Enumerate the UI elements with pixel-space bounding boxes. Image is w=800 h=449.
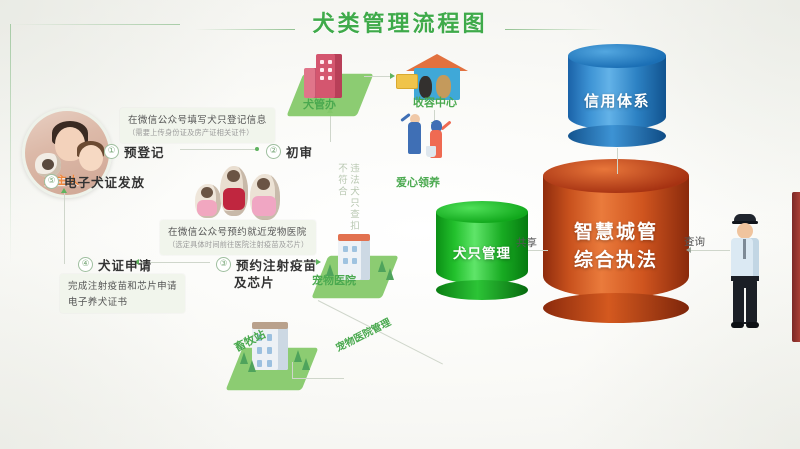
connector-step1-to-step2 — [180, 149, 258, 150]
label-adoption: 爱心领养 — [396, 174, 440, 190]
cylinder-top — [543, 159, 689, 193]
title-rule-left — [195, 29, 295, 30]
step-number: ① — [104, 144, 119, 159]
adult-body — [408, 122, 421, 154]
officer-shoe-right — [746, 322, 759, 328]
illustration-adoption — [398, 112, 468, 174]
frame-line-left — [10, 24, 11, 264]
step-label: 犬证申请 — [98, 255, 152, 274]
illustration-enforcement-officer — [722, 214, 768, 332]
connector-label-share: 共享 — [516, 235, 537, 250]
right-edge-band — [792, 192, 800, 342]
step-4-license-application[interactable]: ④ 犬证申请 — [78, 255, 152, 274]
connector-livestock-base — [292, 378, 344, 379]
diagram-canvas: 犬类管理流程图 犬主人 在微信公众号填写犬只登记信息 （需要上传身份证及房产证相… — [0, 0, 800, 449]
dog-1-face — [201, 187, 213, 198]
step-number: ② — [266, 144, 281, 159]
step-label: 电子犬证发放 — [64, 172, 145, 191]
connector-dogoffice-to-shelter — [364, 76, 392, 77]
label-shelter-center: 收容中心 — [413, 94, 457, 110]
smart-city-line-2: 综合执法 — [543, 246, 689, 274]
dog-3-coat — [252, 196, 276, 216]
label-pet-hospital: 宠物医院 — [312, 272, 356, 288]
system-dog-management-label: 犬只管理 — [436, 242, 528, 262]
system-dog-management-cylinder[interactable]: 犬只管理 — [436, 212, 528, 290]
frame-line-top-left — [10, 24, 180, 25]
dogs-photo — [193, 158, 298, 220]
label-dog-office: 犬管办 — [303, 96, 336, 112]
note-title: 在微信公众号预约就近宠物医院 — [168, 224, 308, 238]
system-credit-label: 信用体系 — [568, 90, 666, 111]
connector-dot — [255, 147, 259, 151]
cylinder-bottom — [568, 125, 666, 147]
dog-3-face — [257, 178, 270, 190]
dog-2-face — [227, 170, 240, 182]
step-number: ③ — [216, 257, 231, 272]
step-5-license-issue[interactable]: ⑤ 电子犬证发放 — [44, 172, 145, 191]
child-arm — [440, 120, 451, 130]
step-number: ④ — [78, 257, 93, 272]
note-subtitle: （选定具体时间前往医院注射疫苗及芯片） — [168, 240, 308, 250]
officer-leg-gap — [744, 288, 746, 322]
officer-head — [737, 223, 753, 239]
building-livestock-station — [222, 322, 322, 390]
connector-share — [528, 250, 548, 251]
note-license-application: 完成注射疫苗和芯片申请 电子养犬证书 — [60, 274, 185, 313]
system-credit-cylinder[interactable]: 信用体系 — [568, 56, 666, 136]
title-rule-right — [505, 29, 605, 30]
hospital-roof — [338, 234, 370, 241]
step-number: ⑤ — [44, 174, 59, 189]
officer-tie — [743, 239, 746, 259]
shelter-sign — [396, 74, 418, 89]
note-subtitle: （需要上传身份证及房产证相关证件） — [128, 128, 267, 138]
connector-step4-to-step5 — [64, 192, 65, 264]
officer-shoe-left — [731, 322, 744, 328]
connector-label-query: 查询 — [684, 234, 705, 249]
note-vaccine-appointment: 在微信公众号预约就近宠物医院 （选定具体时间前往医院注射疫苗及芯片） — [160, 220, 316, 255]
cylinder-top — [436, 201, 528, 223]
note-title: 完成注射疫苗和芯片申请 — [68, 278, 177, 292]
step-3-label-line2: 及芯片 — [234, 272, 275, 291]
puppy-face — [42, 159, 54, 170]
smart-city-line-1: 智慧城管 — [543, 218, 689, 246]
page-title: 犬类管理流程图 — [296, 6, 503, 38]
step-label: 预登记 — [124, 142, 165, 161]
child-face — [79, 145, 103, 171]
system-smart-city-cylinder[interactable]: 智慧城管 综合执法 — [543, 176, 689, 308]
note-title: 在微信公众号填写犬只登记信息 — [128, 112, 267, 126]
connector-review-to-dog-office — [330, 112, 331, 142]
note-pre-registration: 在微信公众号填写犬只登记信息 （需要上传身份证及房产证相关证件） — [120, 108, 275, 143]
dog-1-coat — [197, 200, 217, 216]
cylinder-top — [568, 44, 666, 68]
annotation-illegal-seizure: 违法犬只查扣 — [346, 163, 360, 232]
title-block: 犬类管理流程图 — [0, 6, 800, 38]
note-subtitle: 电子养犬证书 — [68, 294, 177, 308]
arrow-to-shelter — [390, 73, 395, 79]
step-1-pre-registration[interactable]: ① 预登记 — [104, 142, 165, 161]
connector-credit-to-smartcity — [617, 148, 618, 174]
cylinder-bottom — [436, 280, 528, 300]
connector-livestock-riser — [292, 362, 293, 379]
cylinder-bottom — [543, 293, 689, 323]
system-smart-city-label: 智慧城管 综合执法 — [543, 218, 689, 274]
pet-carrier — [426, 146, 436, 157]
dog-2-coat — [223, 188, 245, 210]
